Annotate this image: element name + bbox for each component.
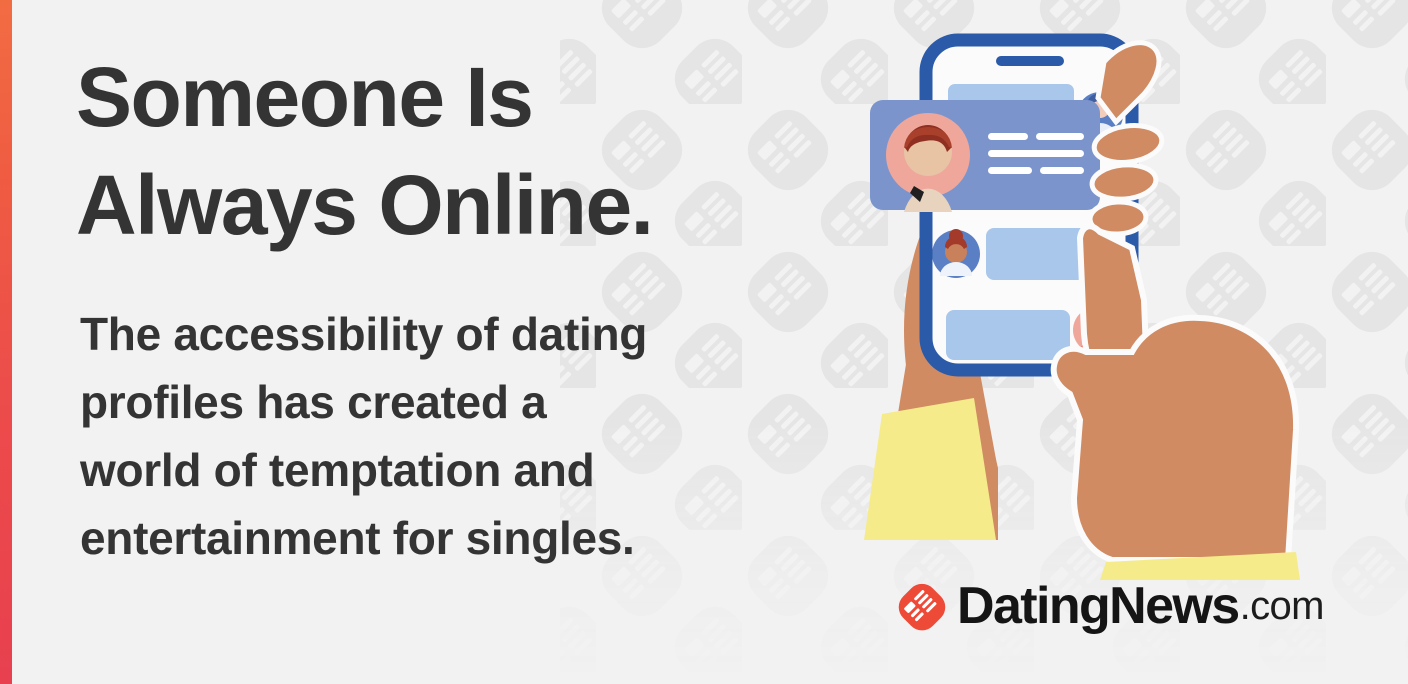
chat-bubble-3 xyxy=(946,310,1070,360)
logo-wordmark: DatingNews xyxy=(957,580,1239,632)
left-sleeve xyxy=(864,398,996,540)
heart-newspaper-icon xyxy=(893,580,951,632)
left-accent-stripe xyxy=(0,0,12,684)
hand-holding-phone-illustration xyxy=(848,0,1408,580)
page-title: Someone Is Always Online. xyxy=(76,44,866,259)
text-column: Someone Is Always Online. The accessibil… xyxy=(76,0,866,684)
left-hand-fingers xyxy=(1089,43,1164,236)
datingnews-logo[interactable]: DatingNews .com xyxy=(893,575,1324,637)
logo-tld: .com xyxy=(1240,586,1324,626)
dating-news-banner: Someone Is Always Online. The accessibil… xyxy=(0,0,1408,684)
profile-card xyxy=(870,100,1100,212)
phone-speaker xyxy=(996,56,1064,66)
subtitle-text: The accessibility of dating profiles has… xyxy=(80,300,840,572)
right-hand-pointing xyxy=(1054,226,1300,580)
